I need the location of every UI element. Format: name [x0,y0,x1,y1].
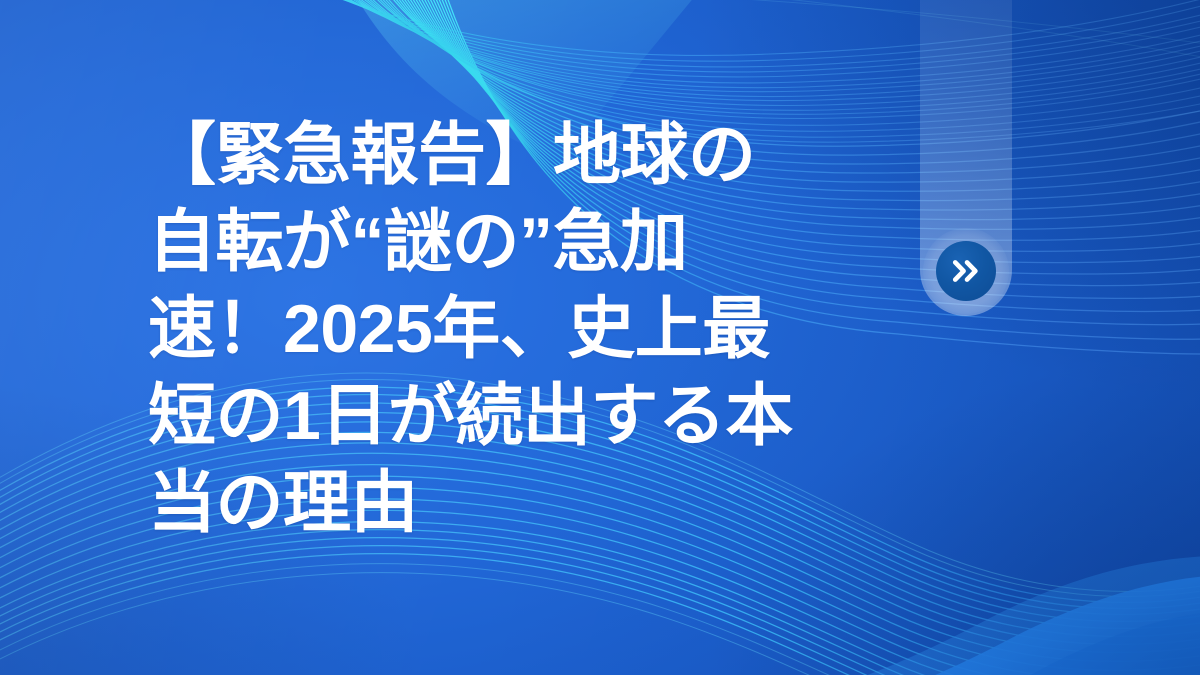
page-title: 【緊急報告】地球の 自転が“謎の”急加 速！2025年、史上最 短の1日が続出す… [148,112,888,547]
article-hero-banner: 【緊急報告】地球の 自転が“謎の”急加 速！2025年、史上最 短の1日が続出す… [0,0,1200,675]
double-chevron-right-icon [951,258,981,284]
next-button-pill-track [920,0,1012,316]
next-slide-button[interactable] [936,241,996,301]
